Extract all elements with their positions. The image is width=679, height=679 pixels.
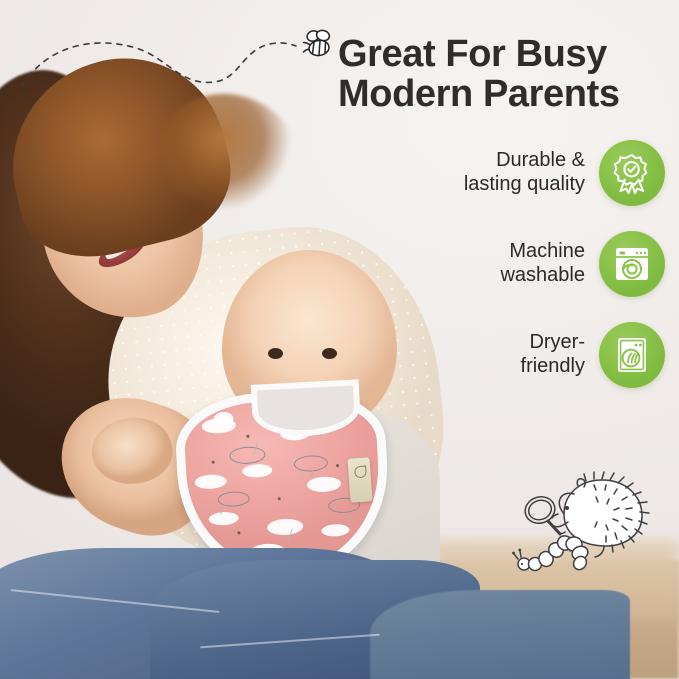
washing-machine-icon [612,244,652,284]
baby-eye-right [322,348,337,359]
headline-line-1: Great For Busy [338,33,607,75]
headline: Great For Busy Modern Parents [338,34,668,115]
bib-rain-dot [212,461,215,464]
feature-icon-badge [599,322,665,388]
jeans-right [370,590,630,679]
bib-rain-dot [278,497,281,500]
award-ribbon-icon [611,152,653,194]
brand-logo-tag [347,457,372,502]
feature-icon-badge [599,231,665,297]
feature-label: Dryer- friendly [521,331,585,378]
leaf-icon [354,466,367,479]
feature-icon-badge [599,140,665,206]
feature-item-durable: Durable & lasting quality [360,140,665,206]
dashed-flight-path [18,30,318,90]
feature-item-dryer-friendly: Dryer- friendly [360,322,665,388]
product-marketing-image: Great For Busy Modern Parents Durable & … [0,0,679,679]
bib-rain-dot [237,531,240,534]
feature-list: Durable & lasting quality Machine washab… [360,140,665,413]
feature-label: Machine washable [500,240,585,287]
caterpillar-icon [512,522,598,580]
baby-eye-left [268,348,283,359]
dryer-icon [612,335,652,375]
bib-rain-dot [246,435,249,438]
bib-rain-dot [336,464,339,467]
bee-icon [300,28,336,62]
headline-line-2: Modern Parents [338,74,668,114]
feature-label: Durable & lasting quality [464,149,585,196]
feature-item-machine-washable: Machine washable [360,231,665,297]
